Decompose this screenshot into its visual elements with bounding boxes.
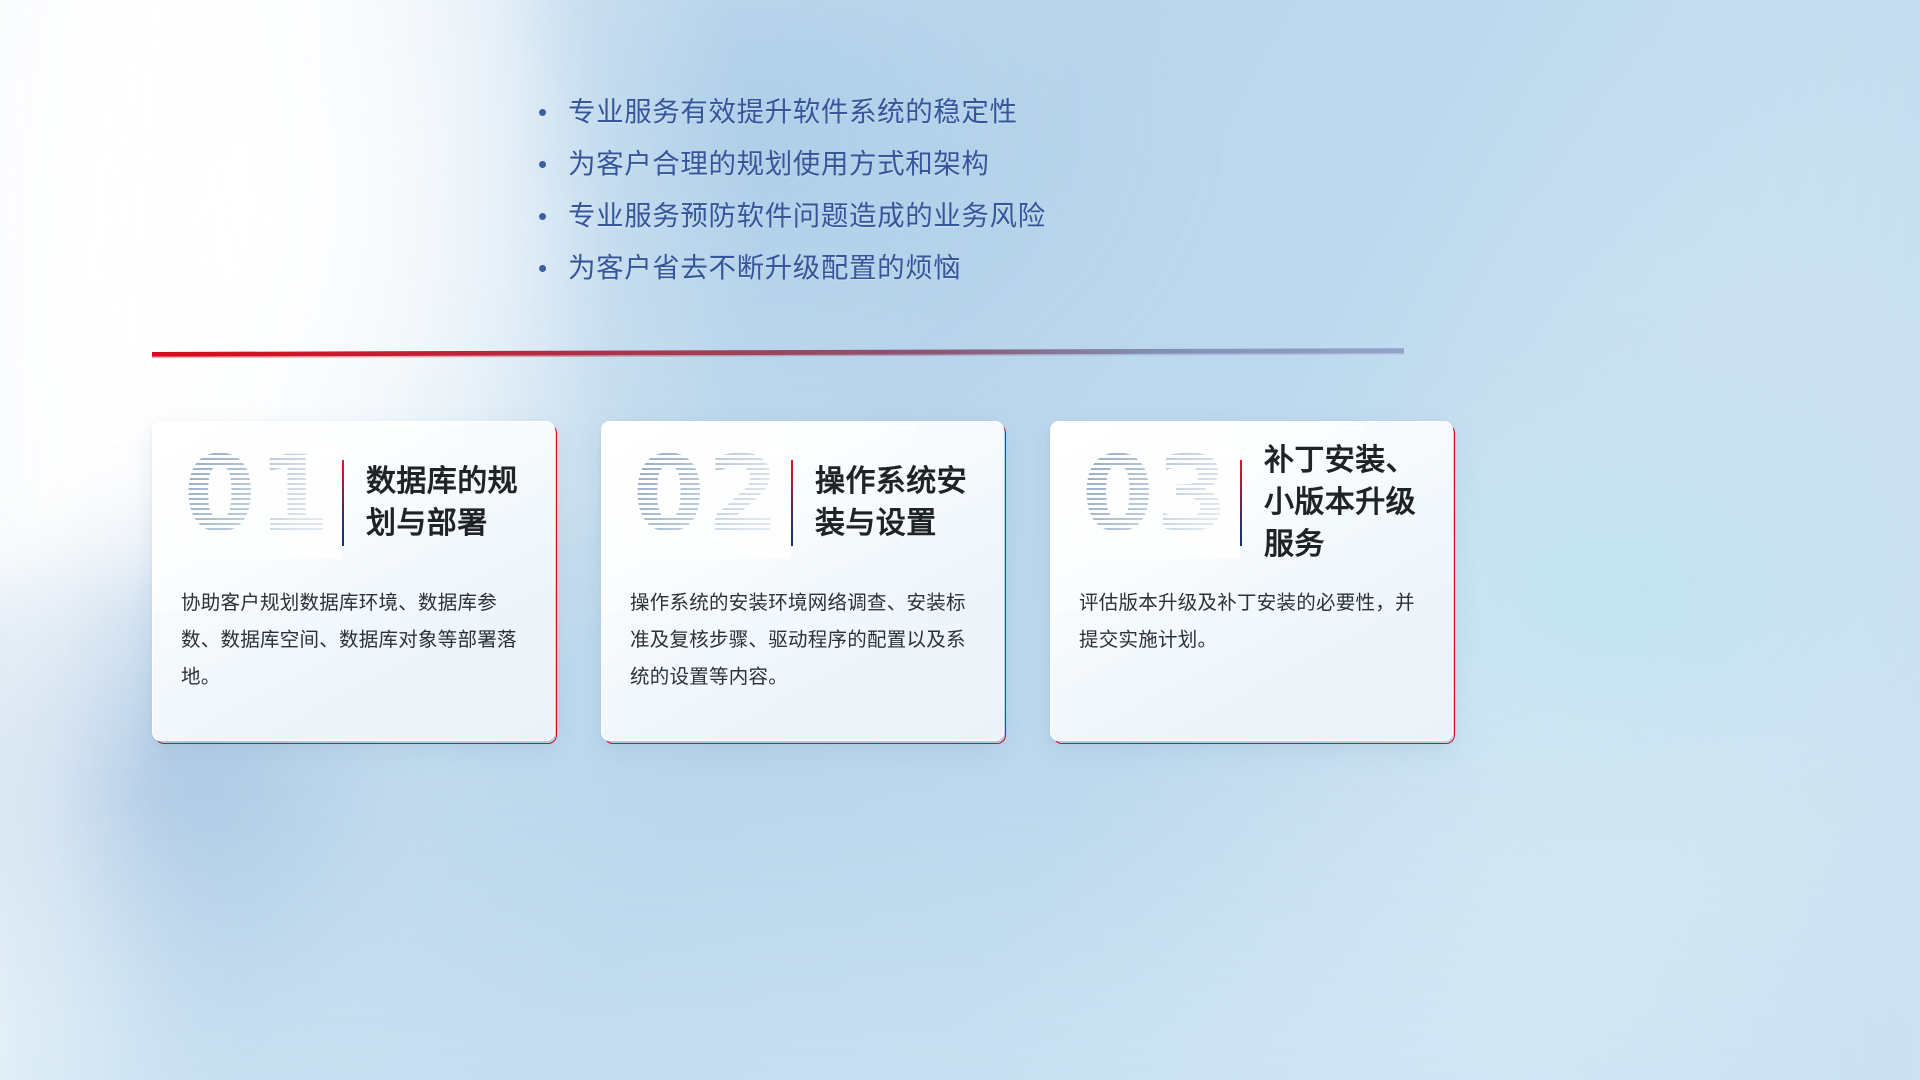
section-divider xyxy=(152,348,1404,361)
service-card[interactable]: 03 补丁安装、小版本升级服务 评估版本升级及补丁安装的必要性，并提交实施计划。 xyxy=(1050,421,1453,741)
bullet-label: 专业服务有效提升软件系统的稳定性 xyxy=(568,92,1018,132)
service-card-list: 01 数据库的规划与部署 协助客户规划数据库环境、数据库参数、数据库空间、数据库… xyxy=(152,421,1454,741)
service-card[interactable]: 02 操作系统安装与设置 操作系统的安装环境网络调查、安装标准及复核步骤、驱动程… xyxy=(601,421,1004,741)
benefits-bullet-list: • 专业服务有效提升软件系统的稳定性 • 为客户合理的规划使用方式和架构 • 专… xyxy=(538,92,1178,300)
card-header: 03 补丁安装、小版本升级服务 xyxy=(1050,443,1453,563)
bullet-item: • 为客户合理的规划使用方式和架构 xyxy=(538,144,1178,196)
card-title: 数据库的规划与部署 xyxy=(366,461,555,545)
bullet-label: 专业服务预防软件问题造成的业务风险 xyxy=(568,196,1046,236)
bullet-item: • 专业服务预防软件问题造成的业务风险 xyxy=(538,196,1178,248)
service-card[interactable]: 01 数据库的规划与部署 协助客户规划数据库环境、数据库参数、数据库空间、数据库… xyxy=(152,421,555,741)
card-number-text: 01 xyxy=(174,447,342,550)
card-description: 协助客户规划数据库环境、数据库参数、数据库空间、数据库对象等部署落地。 xyxy=(181,585,529,696)
bullet-dot-icon: • xyxy=(538,196,568,236)
card-description: 评估版本升级及补丁安装的必要性，并提交实施计划。 xyxy=(1079,585,1427,659)
card-title-rule xyxy=(342,460,344,546)
card-title: 补丁安装、小版本升级服务 xyxy=(1264,440,1453,566)
card-number-text: 03 xyxy=(1072,447,1240,550)
card-description: 操作系统的安装环境网络调查、安装标准及复核步骤、驱动程序的配置以及系统的设置等内… xyxy=(630,585,978,696)
card-number-badge: 01 xyxy=(174,447,342,559)
card-header: 02 操作系统安装与设置 xyxy=(601,443,1004,563)
bullet-dot-icon: • xyxy=(538,144,568,184)
card-number-badge: 03 xyxy=(1072,447,1240,559)
card-title-rule xyxy=(791,460,793,546)
bullet-item: • 为客户省去不断升级配置的烦恼 xyxy=(538,248,1178,300)
card-number-badge: 02 xyxy=(623,447,791,559)
background-right-vignette xyxy=(1498,0,1920,1080)
bullet-dot-icon: • xyxy=(538,92,568,132)
card-header: 01 数据库的规划与部署 xyxy=(152,443,555,563)
bullet-dot-icon: • xyxy=(538,248,568,288)
bullet-label: 为客户省去不断升级配置的烦恼 xyxy=(568,248,961,288)
card-number-text: 02 xyxy=(623,447,791,550)
bullet-item: • 专业服务有效提升软件系统的稳定性 xyxy=(538,92,1178,144)
gradient-rule-icon xyxy=(152,348,1404,361)
bullet-label: 为客户合理的规划使用方式和架构 xyxy=(568,144,990,184)
card-title-rule xyxy=(1240,460,1242,546)
card-title: 操作系统安装与设置 xyxy=(815,461,1004,545)
